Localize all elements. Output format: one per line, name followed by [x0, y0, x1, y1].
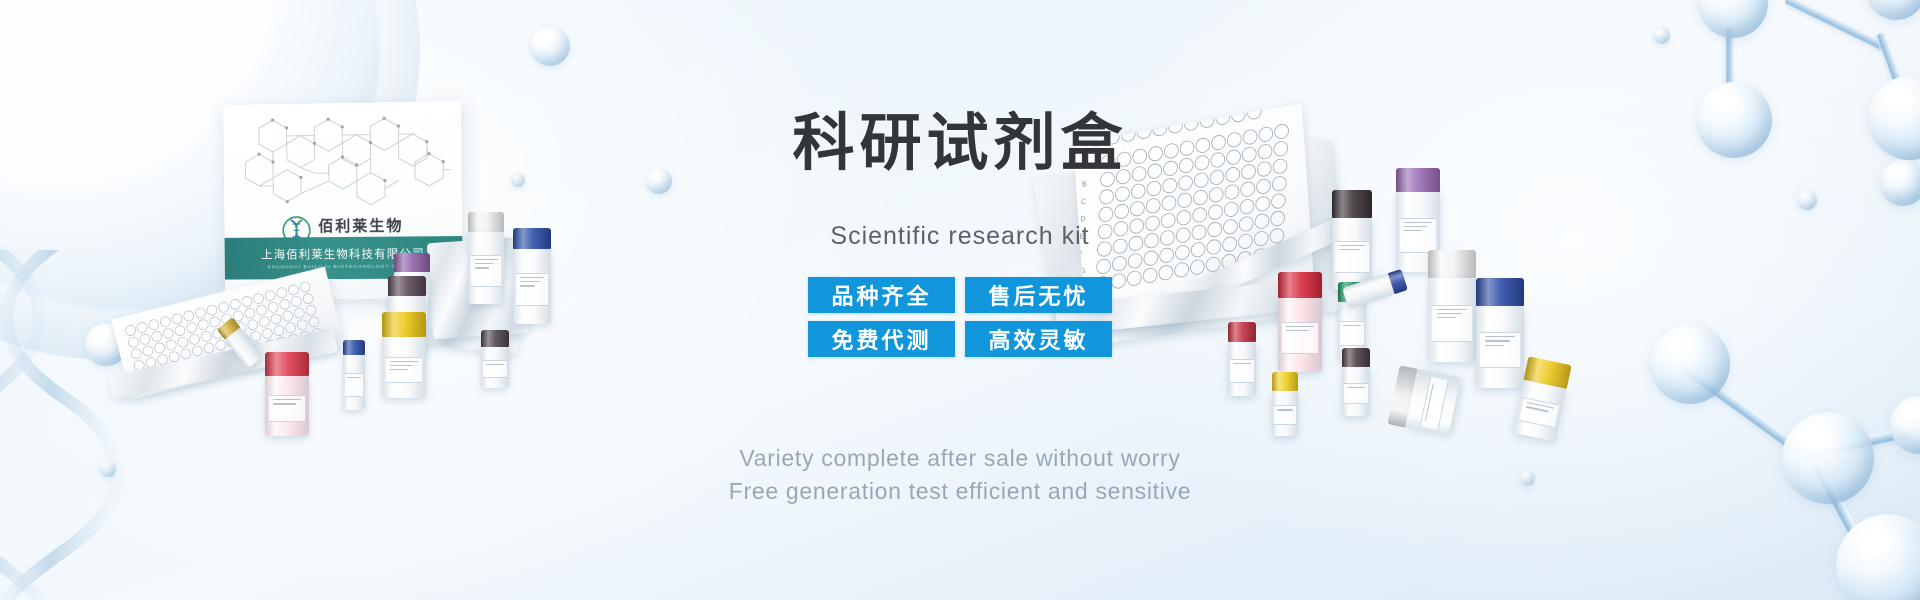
feature-badge-group: 品种齐全 售后无忧 免费代测 高效灵敏	[0, 277, 1920, 357]
molecule-node-icon	[1698, 0, 1768, 38]
vial-label	[386, 357, 423, 384]
water-bubble-icon	[1653, 27, 1670, 44]
feature-badge-variety-complete[interactable]: 品种齐全	[808, 277, 955, 313]
vial-label	[1230, 359, 1254, 383]
tagline-block: Variety complete after sale without worr…	[0, 442, 1920, 507]
banner-root: 佰利莱生物 BAILILAI BIOLOGY 上海佰利莱生物科技有限公司 SHA…	[0, 0, 1920, 600]
vial-small-dark-cap	[1342, 348, 1370, 416]
feature-badge-after-sale[interactable]: 售后无忧	[965, 277, 1112, 313]
tagline-line-2: Free generation test efficient and sensi…	[0, 475, 1920, 508]
molecule-node-icon	[1836, 514, 1920, 600]
feature-badge-high-sensitivity[interactable]: 高效灵敏	[965, 321, 1112, 357]
vial-pink-red-cap	[265, 352, 309, 436]
vial-cap	[1272, 372, 1298, 391]
vial-label	[483, 360, 507, 378]
vial-label	[345, 373, 364, 397]
vial-cap	[394, 253, 430, 272]
vial-label	[1519, 397, 1560, 428]
svg-text:B: B	[1082, 179, 1088, 189]
vial-label	[1420, 377, 1449, 430]
vial-yellow-cap	[1272, 372, 1298, 436]
vial-body	[343, 355, 365, 410]
feature-badge-row-2: 免费代测 高效灵敏	[808, 321, 1112, 357]
vial-cap	[1332, 190, 1372, 218]
vial-body	[1512, 380, 1566, 442]
vial-white-cap-bottom	[1387, 365, 1460, 437]
feature-badge-row-1: 品种齐全 售后无忧	[808, 277, 1112, 313]
water-bubble-icon	[1797, 190, 1817, 210]
molecule-node-icon	[1866, 0, 1920, 20]
molecule-bond	[1725, 28, 1736, 114]
svg-text:C: C	[1081, 196, 1087, 206]
page-subtitle: Scientific research kit	[0, 222, 1920, 251]
vial-label	[1274, 405, 1296, 425]
feature-badge-free-testing[interactable]: 免费代测	[808, 321, 955, 357]
vial-body	[265, 376, 309, 436]
molecule-bond	[1875, 32, 1910, 103]
vial-body	[1342, 367, 1370, 416]
vial-cap	[1428, 250, 1476, 278]
vial-label	[269, 395, 306, 421]
vial-body	[1272, 391, 1298, 436]
tagline-line-1: Variety complete after sale without worr…	[0, 442, 1920, 475]
molecule-bond	[1784, 0, 1886, 52]
page-title: 科研试剂盒	[0, 108, 1920, 177]
vial-label	[1344, 383, 1368, 405]
